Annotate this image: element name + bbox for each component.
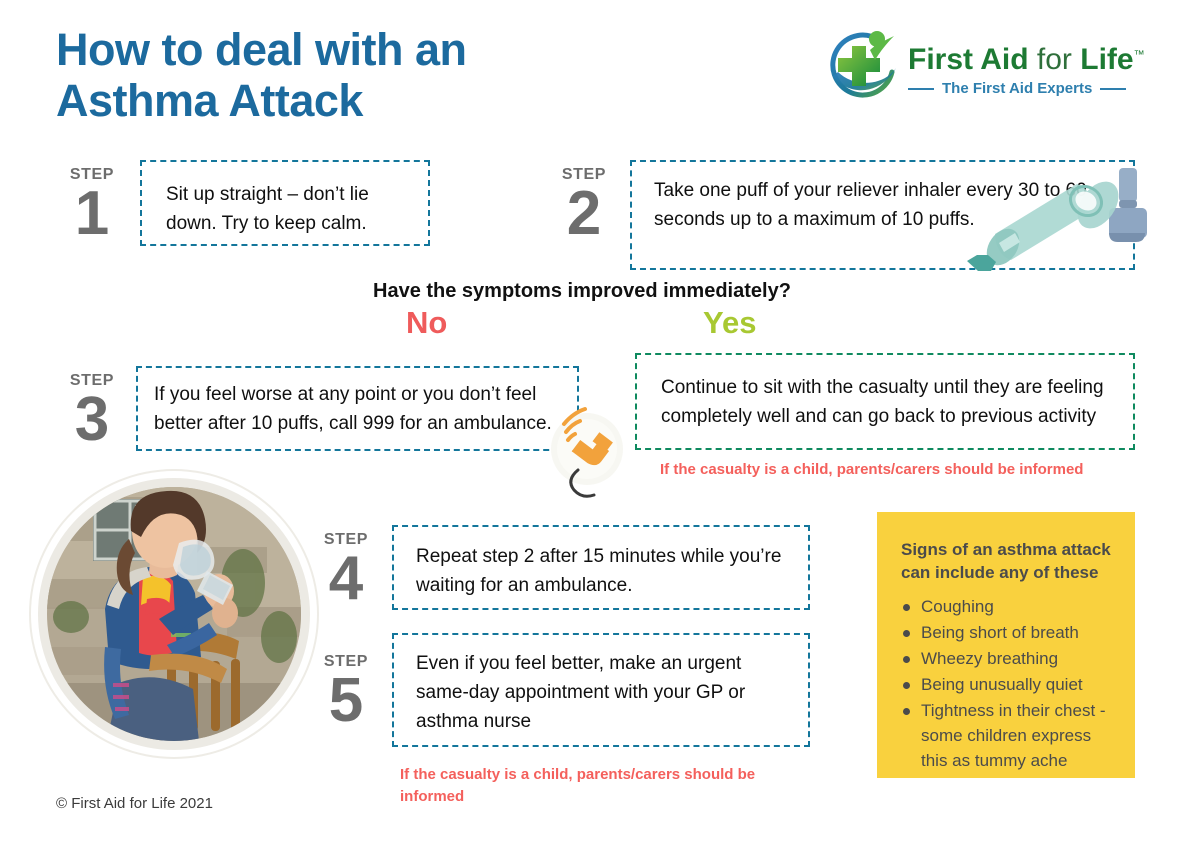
decision-answer-no: No (406, 305, 447, 341)
step-1-text: Sit up straight – don’t lie down. Try to… (166, 180, 408, 238)
step-5-text: Even if you feel better, make an urgent … (416, 649, 790, 736)
signs-panel-title: Signs of an asthma attack can include an… (901, 538, 1115, 584)
phone-call-999-icon (540, 404, 640, 504)
signs-panel: Signs of an asthma attack can include an… (877, 512, 1135, 778)
step-3-number: 3 (56, 392, 128, 448)
decision-question: Have the symptoms improved immediately? (373, 280, 791, 303)
yes-branch-warning: If the casualty is a child, parents/care… (660, 459, 1140, 481)
spacer-device-icon (980, 174, 1127, 271)
page-title-line1: How to deal with an (56, 24, 467, 75)
signs-list-item: Tightness in their chest - some children… (901, 698, 1115, 773)
logo-rule-left (908, 88, 934, 90)
child-using-spacer-photo (38, 478, 310, 750)
brand-logo: First Aid for Life™ The First Aid Expert… (820, 26, 1140, 112)
signs-list: Coughing Being short of breath Wheezy br… (901, 594, 1115, 773)
signs-list-item: Wheezy breathing (901, 646, 1115, 671)
step-2-number: 2 (548, 186, 620, 242)
decision-answer-yes: Yes (703, 305, 756, 341)
logo-tagline-row: The First Aid Experts (908, 80, 1145, 97)
step-1-number: 1 (56, 186, 128, 242)
signs-list-item: Coughing (901, 594, 1115, 619)
logo-name-for: for (1037, 43, 1080, 76)
step-1-box: Sit up straight – don’t lie down. Try to… (140, 160, 430, 246)
step-4-box: Repeat step 2 after 15 minutes while you… (392, 525, 810, 610)
step-4-number: 4 (310, 551, 382, 607)
yes-branch-box: Continue to sit with the casualty until … (635, 353, 1135, 450)
page-title: How to deal with an Asthma Attack (56, 24, 616, 126)
signs-list-item: Being unusually quiet (901, 672, 1115, 697)
inhaler-spacer-illustration (955, 160, 1155, 285)
step-5-number: 5 (310, 673, 382, 729)
logo-name: First Aid for Life™ (908, 38, 1145, 77)
step-4-text: Repeat step 2 after 15 minutes while you… (416, 542, 790, 600)
logo-name-part1: First Aid (908, 43, 1037, 76)
copyright-notice: © First Aid for Life 2021 (56, 795, 213, 812)
yes-branch-text: Continue to sit with the casualty until … (661, 373, 1111, 431)
logo-rule-right (1100, 88, 1126, 90)
first-aid-cross-icon (820, 28, 906, 108)
infographic-page: How to deal with an Asthma Attack (0, 0, 1191, 843)
logo-name-part2: Life (1080, 43, 1133, 76)
signs-list-item: Being short of breath (901, 620, 1115, 645)
step-5-box: Even if you feel better, make an urgent … (392, 633, 810, 747)
photo-image (47, 487, 301, 741)
step-3-text: If you feel worse at any point or you do… (154, 380, 559, 438)
logo-wordmark: First Aid for Life™ The First Aid Expert… (908, 38, 1145, 97)
no-branch-warning: If the casualty is a child, parents/care… (400, 764, 790, 808)
logo-tagline: The First Aid Experts (942, 80, 1092, 97)
page-title-line2: Asthma Attack (56, 75, 616, 126)
trademark-symbol: ™ (1134, 49, 1145, 61)
step-3-box: If you feel worse at any point or you do… (136, 366, 579, 451)
